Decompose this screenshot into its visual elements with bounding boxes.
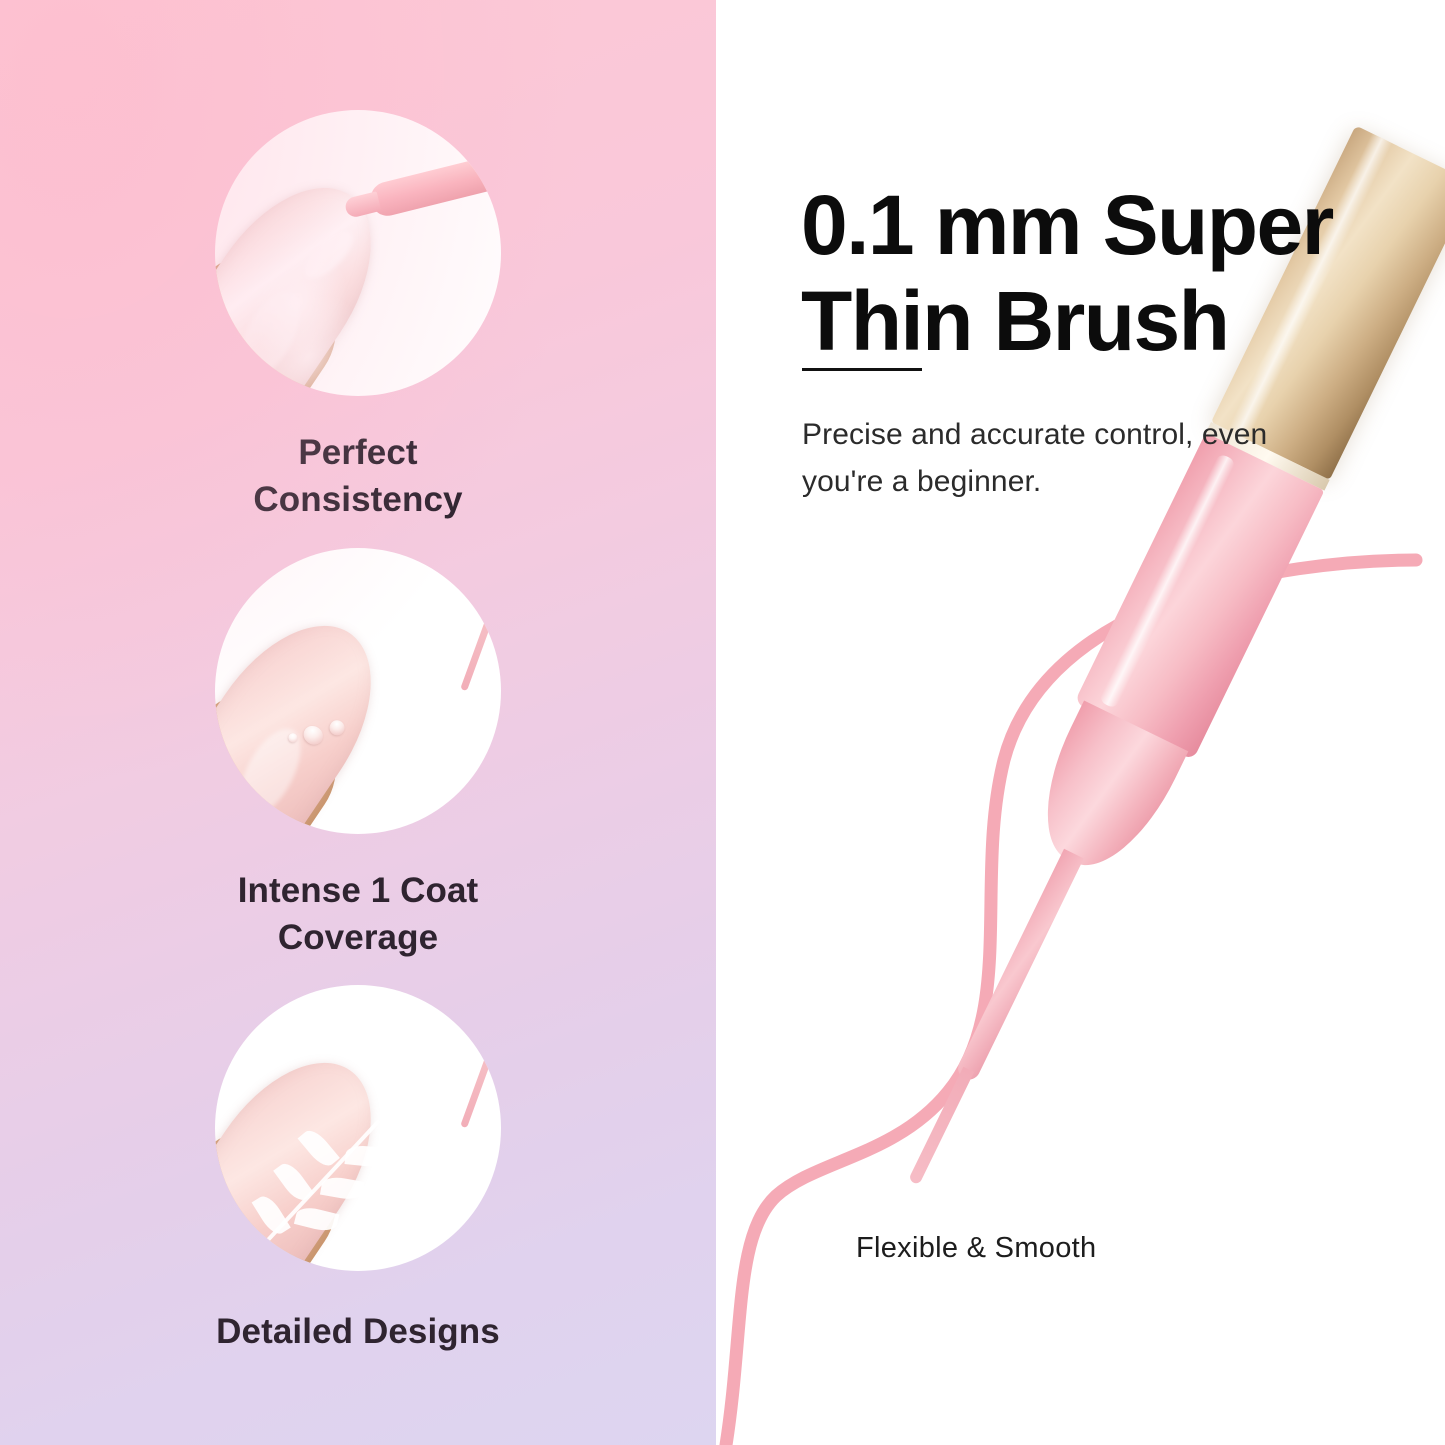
caption-line-1: Perfect (0, 430, 716, 477)
leaf-shape (344, 1144, 388, 1168)
caption-line-2: Consistency (0, 477, 716, 524)
leaf-nail-art-icon (215, 1071, 435, 1271)
nail-illustration-icon (215, 568, 452, 834)
polish-droplet-shape (300, 722, 327, 748)
feature-block-perfect-consistency: Perfect Consistency (0, 110, 716, 523)
feature-caption-intense-coverage: Intense 1 Coat Coverage (0, 868, 716, 961)
subcopy-line-1: Precise and accurate control, even (802, 412, 1322, 459)
nail-gloss-highlight (227, 719, 313, 825)
leaf-shape (298, 1126, 340, 1171)
feature-block-detailed-designs: Detailed Designs (0, 985, 716, 1356)
feature-block-intense-coverage: Intense 1 Coat Coverage (0, 548, 716, 961)
feature-photo-detailed-designs (215, 985, 501, 1271)
nail-plate-shape (215, 595, 407, 834)
thin-brush-line-icon (460, 548, 501, 691)
headline-line-2: Thin Brush (801, 274, 1228, 368)
feature-caption-perfect-consistency: Perfect Consistency (0, 430, 716, 523)
caption-line-1: Detailed Designs (0, 1309, 716, 1356)
hero-subcopy: Precise and accurate control, even you'r… (802, 412, 1322, 505)
headline-divider (802, 368, 922, 371)
nail-plate-shape (215, 1032, 407, 1271)
left-feature-panel: Perfect Consistency (0, 0, 716, 1445)
nail-illustration-icon (215, 1005, 452, 1271)
leaf-shape (294, 1204, 340, 1234)
feature-photo-perfect-consistency (215, 110, 501, 396)
feature-caption-detailed-designs: Detailed Designs (0, 1309, 716, 1356)
headline-line-1: 0.1 mm Super (801, 178, 1333, 272)
subcopy-line-2: you're a beginner. (802, 459, 1322, 506)
thin-brush-line-icon (460, 985, 501, 1128)
feature-photo-intense-coverage (215, 548, 501, 834)
right-hero-panel: 0.1 mm Super Thin Brush Precise and accu… (716, 0, 1445, 1445)
caption-line-1: Intense 1 Coat (0, 868, 716, 915)
hero-headline: 0.1 mm Super Thin Brush (801, 178, 1441, 370)
leaf-shape (252, 1192, 291, 1238)
brush-footnote-label: Flexible & Smooth (856, 1232, 1096, 1265)
brush-applicator-icon (367, 153, 501, 220)
caption-line-2: Coverage (0, 915, 716, 962)
polish-droplet-shape (327, 717, 348, 738)
leaf-shape (320, 1175, 365, 1202)
product-feature-graphic: Perfect Consistency (0, 0, 1445, 1445)
nail-illustration-icon (215, 130, 452, 396)
